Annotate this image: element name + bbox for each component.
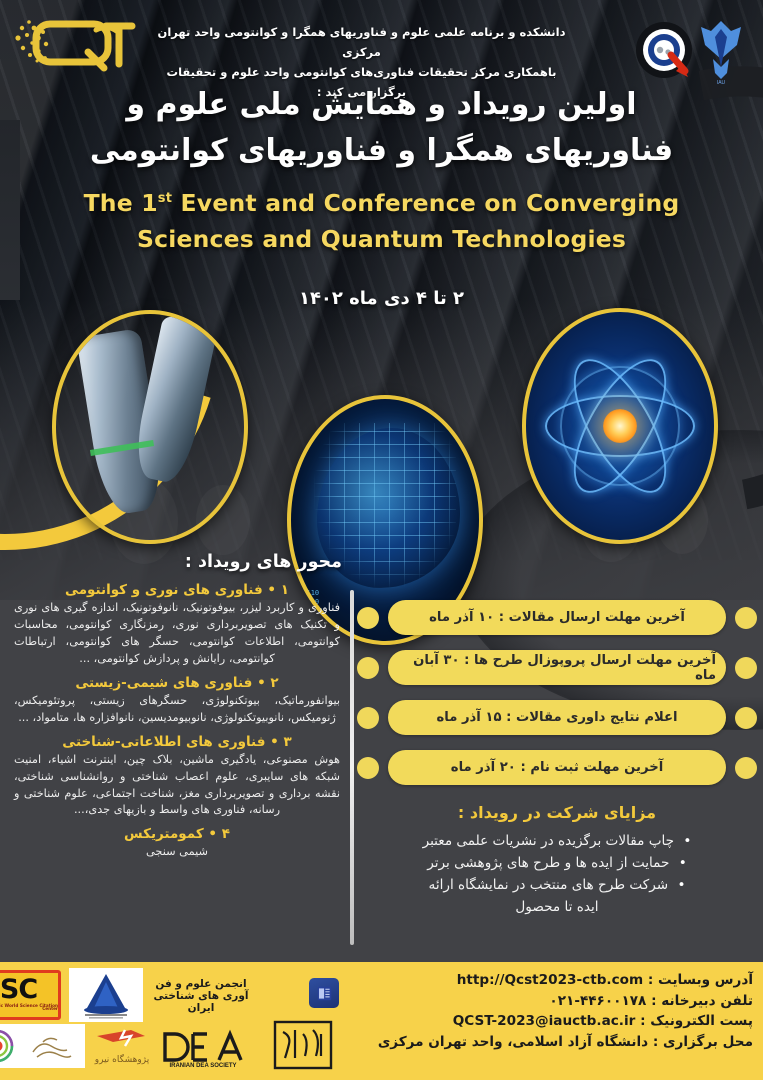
deadline-badge: اعلام نتایج داوری مقالات : ۱۵ آذر ماه: [388, 700, 726, 735]
venue-label: محل برگزاری :: [653, 1034, 753, 1050]
topic-title: ۲ • فناوری های شیمی-زیستی: [8, 675, 346, 691]
topic-item: ۳ • فناوری های اطلاعاتی-شناختی هوش مصنوع…: [8, 734, 346, 820]
bullet-icon: •: [679, 855, 687, 871]
poster-footer: آدرس وبسایت : http://Qcst2023-ctb.com تل…: [0, 962, 763, 1080]
isc-logo-subtitle: Islamic World Science Citation Center: [0, 1004, 58, 1011]
topic-item: ۲ • فناوری های شیمی-زیستی بیوانفورماتیک،…: [8, 675, 346, 727]
deadline-row: آخرین مهلت ارسال پروپوزال طرح ها : ۳۰ آب…: [357, 650, 757, 685]
deadlines-column: آخرین مهلت ارسال مقالات : ۱۰ آذر ماه آخر…: [357, 600, 757, 918]
phone-value: ۰۲۱-۴۴۶۰۰۱۷۸: [549, 993, 646, 1009]
deadline-badge: آخرین مهلت ارسال مقالات : ۱۰ آذر ماه: [388, 600, 726, 635]
topic-bullet: •: [257, 675, 266, 691]
english-title-line-1: The 1st Event and Conference on Convergi…: [48, 186, 715, 222]
topic-bullet: •: [267, 582, 276, 598]
host-line-1: دانشکده و برنامه علمی علوم و فناوریهای ه…: [150, 22, 573, 62]
benefit-list-item: • چاپ مقالات برگزیده در نشریات علمی معتب…: [367, 830, 747, 852]
event-date: ۲ تا ۴ دی ماه ۱۴۰۲: [0, 288, 763, 309]
english-title-rest: Event and Conference on Converging: [181, 189, 680, 217]
topic-body: شیمی سنجی: [8, 844, 346, 861]
topic-body: هوش مصنوعی، یادگیری ماشین، بلاک چین، این…: [8, 752, 346, 820]
topic-body: فناوری و کاربرد لیزر، بیوفوتونیک، نانوفو…: [8, 600, 346, 668]
isc-logo-text: ISC: [0, 979, 37, 1002]
contact-block: آدرس وبسایت : http://Qcst2023-ctb.com تل…: [343, 962, 763, 1080]
benefit-list-item: • شرکت طرح های منتخب در نمایشگاه ارائه: [367, 874, 747, 896]
conference-poster: دانشکده و برنامه علمی علوم و فناوریهای ه…: [0, 0, 763, 1080]
dea-subtitle: IRANIAN DEA SOCIETY: [169, 1063, 236, 1068]
bullet-dot-icon: [357, 707, 379, 729]
benefits-heading: مزایای شرکت در رویداد :: [367, 803, 747, 822]
shahid-beheshti-university-logo: [273, 1020, 333, 1070]
atom-nucleus: [603, 409, 637, 443]
bullet-dot-icon: [735, 707, 757, 729]
microscope-objective-photo: [52, 310, 248, 544]
venue-value: دانشگاه آزاد اسلامی، واحد تهران مرکزی: [378, 1034, 648, 1050]
topic-title: ۱ • فناوری های نوری و کوانتومی: [8, 582, 346, 598]
topic-item: ۴ • کمومتریکس شیمی سنجی: [8, 826, 346, 861]
persian-title-line-2: فناوریهای همگرا و فناوریهای کوانتومی: [60, 128, 703, 174]
deadline-badge: آخرین مهلت ارسال پروپوزال طرح ها : ۳۰ آب…: [388, 650, 726, 685]
benefit-text: شرکت طرح های منتخب در نمایشگاه ارائه: [429, 877, 669, 893]
venue-line: محل برگزاری : دانشگاه آزاد اسلامی، واحد …: [347, 1032, 753, 1053]
isc-logo: ISC Islamic World Science Citation Cente…: [0, 970, 61, 1020]
topic-title: ۳ • فناوری های اطلاعاتی-شناختی: [8, 734, 346, 750]
persian-title-line-1: اولین رویداد و همایش ملی علوم و: [60, 82, 703, 128]
persian-title: اولین رویداد و همایش ملی علوم و فناوریها…: [0, 82, 763, 173]
qcst-logo: [10, 8, 140, 78]
topic-label: فناوری های نوری و کوانتومی: [65, 582, 263, 598]
phone-line: تلفن دبیرخانه : ۰۲۱-۴۴۶۰۰۱۷۸: [347, 991, 753, 1012]
topic-title: ۴ • کمومتریکس: [8, 826, 346, 842]
bullet-dot-icon: [357, 607, 379, 629]
english-title-line-2: Sciences and Quantum Technologies: [48, 222, 715, 258]
english-title: The 1st Event and Conference on Convergi…: [0, 186, 763, 257]
bullet-icon: •: [683, 833, 691, 849]
bullet-dot-icon: [735, 657, 757, 679]
secondary-institute-logos: [0, 1024, 85, 1068]
top-right-logos: IAU: [635, 8, 755, 92]
topic-number: ۲: [270, 675, 278, 691]
topic-label: فناوری های اطلاعاتی-شناختی: [62, 734, 265, 750]
bullet-dot-icon: [357, 657, 379, 679]
phone-label: تلفن دبیرخانه :: [651, 993, 753, 1009]
email-line: پست الکترونیک : QCST-2023@iauctb.ac.ir: [347, 1011, 753, 1032]
atom-orbit-photo: [522, 308, 718, 544]
topics-heading: محور های رویداد :: [8, 552, 342, 572]
sponsor-logos: ISC Islamic World Science Citation Cente…: [0, 962, 343, 1080]
iust-logo: [69, 968, 143, 1022]
benefit-tail-text: ایده تا محصول: [367, 896, 747, 918]
niroo-label: پژوهشگاه نیرو: [94, 1053, 150, 1065]
bullet-dot-icon: [735, 757, 757, 779]
deadline-row: اعلام نتایج داوری مقالات : ۱۵ آذر ماه: [357, 700, 757, 735]
topic-number: ۳: [283, 734, 291, 750]
cognitive-society-logo: انجمن علوم و فن آوری های شناختی ایران: [147, 978, 255, 1014]
topics-column: محور های رویداد : ۱ • فناوری های نوری و …: [8, 552, 346, 868]
benefit-text: چاپ مقالات برگزیده در نشریات علمی معتبر: [423, 833, 675, 849]
topic-body: بیوانفورماتیک، بیوتکنولوژی، حسگرهای زیست…: [8, 693, 346, 727]
english-title-prefix: The 1: [84, 189, 158, 217]
benefit-text: حمایت از ایده ها و طرح های پژوهشی برتر: [427, 855, 669, 871]
topic-bullet: •: [208, 826, 217, 842]
website-line: آدرس وبسایت : http://Qcst2023-ctb.com: [347, 970, 753, 991]
deadline-badge: آخرین مهلت ثبت نام : ۲۰ آذر ماه: [388, 750, 726, 785]
ordinal-suffix: st: [158, 191, 172, 206]
deadline-row: آخرین مهلت ارسال مقالات : ۱۰ آذر ماه: [357, 600, 757, 635]
topic-bullet: •: [270, 734, 279, 750]
qcrc-logo: [635, 21, 693, 79]
column-divider: [350, 590, 354, 945]
iau-logo: IAU: [697, 15, 745, 85]
topic-label: فناوری های شیمی-زیستی: [75, 675, 252, 691]
iranian-dea-society-logo: IRANIAN DEA SOCIETY: [159, 1028, 247, 1068]
email-value[interactable]: QCST-2023@iauctb.ac.ir: [453, 1013, 636, 1029]
deadline-row: آخرین مهلت ثبت نام : ۲۰ آذر ماه: [357, 750, 757, 785]
topic-number: ۱: [281, 582, 289, 598]
benefits-section: مزایای شرکت در رویداد : • چاپ مقالات برگ…: [357, 803, 757, 918]
benefit-list-item: • حمایت از ایده ها و طرح های پژوهشی برتر: [367, 852, 747, 874]
website-value[interactable]: http://Qcst2023-ctb.com: [457, 972, 643, 988]
email-label: پست الکترونیک :: [640, 1013, 753, 1029]
topic-item: ۱ • فناوری های نوری و کوانتومی فناوری و …: [8, 582, 346, 668]
bullet-dot-icon: [357, 757, 379, 779]
topic-number: ۴: [222, 826, 230, 842]
bullet-icon: •: [677, 877, 685, 893]
bullet-dot-icon: [735, 607, 757, 629]
niroo-research-institute-logo: پژوهشگاه نیرو: [91, 1024, 153, 1070]
topic-label: کمومتریکس: [124, 826, 204, 842]
website-label: آدرس وبسایت :: [648, 972, 753, 988]
